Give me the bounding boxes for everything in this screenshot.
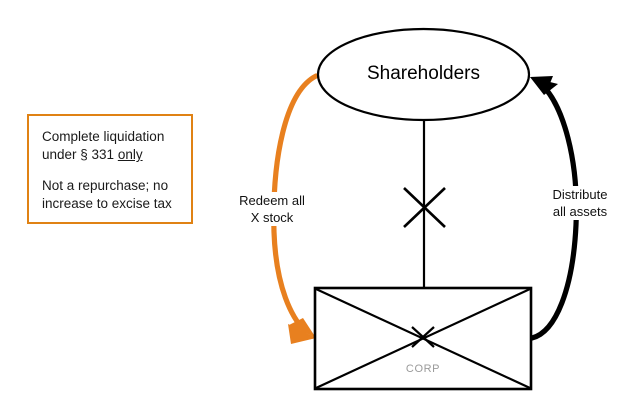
- note-line-3: Not a repurchase; no: [42, 177, 178, 195]
- edge-label-redeem-line1: Redeem all: [238, 192, 306, 209]
- node-corp-label: CORP: [315, 363, 531, 375]
- note-spacer: [42, 164, 178, 177]
- edge-label-distribute-line2: all assets: [552, 203, 608, 220]
- diagram-canvas: Shareholders CORP Complete liquidation u…: [0, 0, 640, 420]
- note-box: Complete liquidation under § 331 only No…: [27, 114, 193, 224]
- edge-label-redeem-line2: X stock: [250, 209, 295, 226]
- edge-label-distribute-line1: Distribute: [552, 186, 609, 203]
- note-line-4: increase to excise tax: [42, 195, 178, 213]
- node-shareholders-label: Shareholders: [318, 63, 529, 85]
- note-emphasis-only: only: [118, 147, 143, 162]
- note-line-2-text: under § 331: [42, 147, 118, 162]
- edge-label-distribute: Distribute all assets: [528, 186, 632, 220]
- note-line-1: Complete liquidation: [42, 128, 178, 146]
- note-line-2: under § 331 only: [42, 146, 178, 164]
- edge-cancelled-link: [404, 118, 445, 288]
- edge-label-redeem: Redeem all X stock: [216, 192, 328, 226]
